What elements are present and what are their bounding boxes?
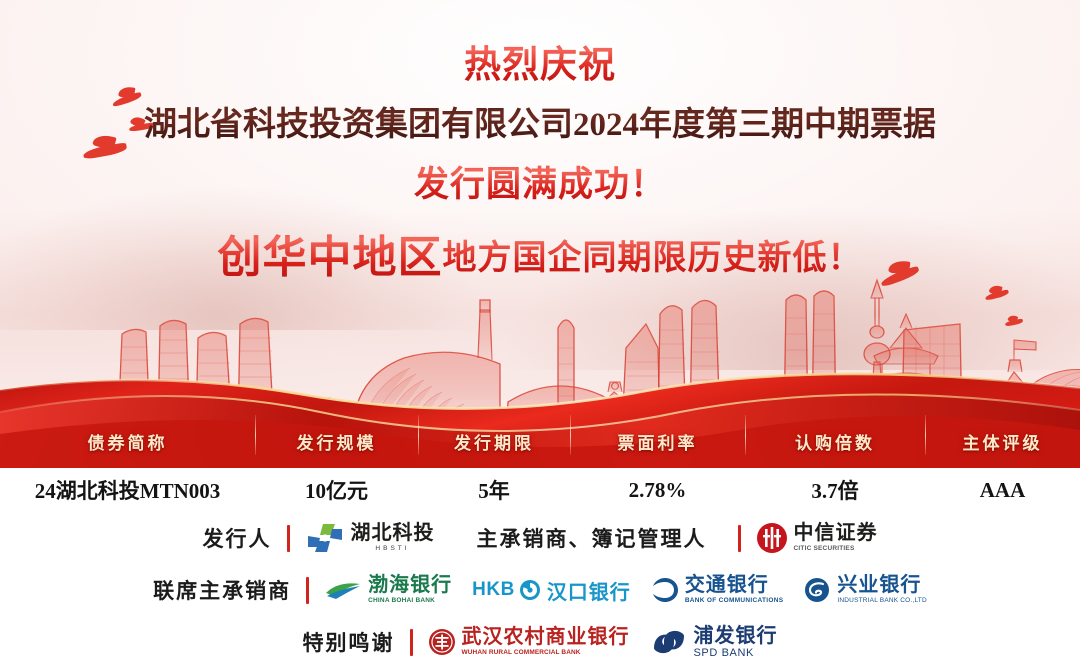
logo-text: 武汉农村商业银行 WUHAN RURAL COMMERCIAL BANK (462, 627, 630, 657)
table-header-cell: 主体评级 (925, 429, 1080, 454)
logo-name-cn: 兴业银行 (837, 575, 926, 595)
headline-line-4-rest: 地方国企同期限历史新低！ (443, 240, 863, 277)
table-header-row: 债券简称 发行规模 发行期限 票面利率 认购倍数 主体评级 (0, 420, 1080, 462)
headline-line-1: 热烈庆祝 (0, 34, 1080, 88)
table-header-cell: 发行期限 (418, 429, 570, 454)
logo-wuhan-rural-commercial-bank: 武汉农村商业银行 WUHAN RURAL COMMERCIAL BANK (428, 627, 630, 657)
logo-name-cn: 湖北科投 (351, 523, 435, 543)
partner-label-joint: 联席主承销商 (153, 575, 291, 605)
table-header-cell: 债券简称 (0, 429, 255, 454)
logo-china-bohai-bank: 渤海银行 CHINA BOHAI BANK (324, 575, 452, 605)
bocom-coin-icon (651, 577, 679, 603)
partner-label-issuer: 发行人 (203, 523, 272, 553)
logo-text: 交通银行 BANK OF COMMUNICATIONS (685, 575, 784, 605)
table-cell-bond-name: 24湖北科投MTN003 (0, 475, 255, 505)
wrcb-circle-icon (428, 628, 456, 656)
logo-text: 湖北科投 HBSTI (351, 523, 435, 553)
headline-emphasis: 创华中地区 (218, 233, 443, 282)
logo-name-cn: 武汉农村商业银行 (462, 627, 630, 647)
table-cell-tenor: 5年 (418, 475, 570, 505)
partner-label-thanks: 特别鸣谢 (303, 627, 395, 657)
logo-name-en: BANK OF COMMUNICATIONS (685, 598, 784, 605)
table-cell-coupon: 2.78% (570, 478, 745, 503)
table-data-row: 24湖北科投MTN003 10亿元 5年 2.78% 3.7倍 AAA (0, 468, 1080, 512)
logo-name-cn: 中信证券 (794, 523, 878, 543)
logo-name-cn: 交通银行 (685, 575, 784, 595)
logo-name-en: CHINA BOHAI BANK (368, 598, 452, 605)
divider (306, 577, 309, 604)
table-cell-subscription: 3.7倍 (745, 475, 925, 505)
logo-hbsti: 湖北科投 HBSTI (305, 521, 435, 555)
pinwheel-icon (305, 521, 345, 555)
citic-circle-icon (756, 522, 788, 554)
headline-block: 热烈庆祝 湖北省科技投资集团有限公司2024年度第三期中期票据 发行圆满成功！ … (0, 0, 1080, 285)
table-cell-rating: AAA (925, 478, 1080, 503)
spd-mark-icon (650, 628, 688, 656)
cib-spiral-icon (803, 577, 831, 603)
logo-spd-bank: 浦发银行 SPD BANK (650, 626, 778, 659)
logo-name-en: WUHAN RURAL COMMERCIAL BANK (462, 650, 630, 657)
logo-name-cn: 渤海银行 (368, 575, 452, 595)
logo-abbr: HKB (472, 579, 515, 601)
partners-section: 发行人 湖北科投 HBSTI 主承销商、簿记管理人 (0, 512, 1080, 668)
divider (287, 525, 290, 552)
logo-name-en: INDUSTRIAL BANK CO.,LTD (837, 598, 926, 605)
table-cell-size: 10亿元 (255, 475, 418, 505)
logo-name-en: CITIC SECURITIES (794, 546, 878, 553)
partner-row-joint-underwriters: 联席主承销商 渤海银行 CHINA BOHAI BANK HKB (0, 564, 1080, 616)
logo-hankou-bank: HKB 汉口银行 (472, 576, 631, 605)
logo-industrial-bank: 兴业银行 INDUSTRIAL BANK CO.,LTD (803, 575, 926, 605)
table-header-cell: 认购倍数 (745, 429, 925, 454)
partner-row-issuer: 发行人 湖北科投 HBSTI 主承销商、簿记管理人 (0, 512, 1080, 564)
logo-citic-securities: 中信证券 CITIC SECURITIES (756, 522, 878, 554)
logo-text: 渤海银行 CHINA BOHAI BANK (368, 575, 452, 605)
headline-line-2: 湖北省科技投资集团有限公司2024年度第三期中期票据 (0, 97, 1080, 145)
headline-line-4: 创华中地区地方国企同期限历史新低！ (0, 221, 1080, 285)
divider (410, 629, 413, 656)
table-header-cell: 发行规模 (255, 429, 418, 454)
celebration-poster: 热烈庆祝 湖北省科技投资集团有限公司2024年度第三期中期票据 发行圆满成功！ … (0, 0, 1080, 668)
partner-row-acknowledgement: 特别鸣谢 武汉农村商业银行 WUHAN RURAL COMMERCIAL BAN… (0, 616, 1080, 668)
logo-name-cn: 浦发银行 (694, 626, 778, 646)
hkb-circle-icon (519, 579, 541, 601)
logo-text: 兴业银行 INDUSTRIAL BANK CO.,LTD (837, 575, 926, 605)
logo-text: 中信证券 CITIC SECURITIES (794, 523, 878, 553)
wave-icon (324, 579, 362, 601)
table-header-cell: 票面利率 (570, 429, 745, 454)
headline-line-3: 发行圆满成功！ (0, 156, 1080, 207)
logo-name-en: SPD BANK (694, 648, 778, 659)
logo-text: 浦发银行 SPD BANK (694, 626, 778, 659)
logo-bank-of-communications: 交通银行 BANK OF COMMUNICATIONS (651, 575, 784, 605)
bond-summary-table: 债券简称 发行规模 发行期限 票面利率 认购倍数 主体评级 24湖北科投MTN0… (0, 420, 1080, 512)
logo-name-cn: 汉口银行 (547, 576, 631, 605)
divider (738, 525, 741, 552)
partner-label-underwriter: 主承销商、簿记管理人 (477, 523, 707, 553)
logo-name-en: HBSTI (351, 546, 435, 553)
